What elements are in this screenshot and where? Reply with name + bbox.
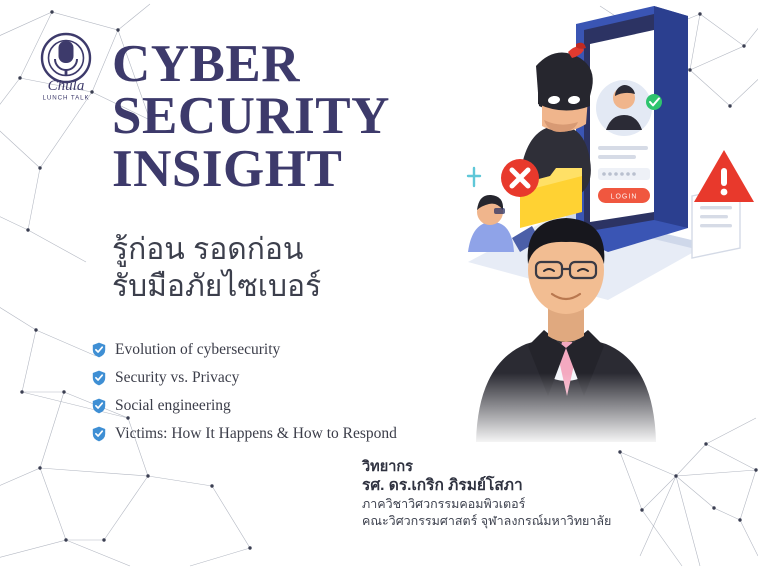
headline-line-2: SECURITY [112, 90, 472, 142]
shield-check-icon [92, 398, 106, 414]
list-item-label: Social engineering [115, 398, 231, 414]
speaker-role: วิทยากร [362, 458, 702, 476]
chula-lunch-talk-logo: Chula LUNCH TALK [28, 28, 104, 104]
logo-tagline-text: LUNCH TALK [43, 95, 90, 102]
headline-line-1: CYBER [112, 38, 472, 90]
list-item: Evolution of cybersecurity [92, 340, 397, 359]
shield-check-icon [92, 370, 106, 386]
thai-subtitle: รู้ก่อน รอดก่อน รับมือภัยไซเบอร์ [112, 232, 472, 305]
headline-line-3: INSIGHT [112, 143, 472, 195]
subtitle-line-2: รับมือภัยไซเบอร์ [112, 269, 472, 306]
list-item: Victims: How It Happens & How to Respond [92, 424, 397, 443]
list-item-label: Evolution of cybersecurity [115, 342, 280, 358]
list-item: Security vs. Privacy [92, 368, 397, 387]
speaker-faculty: คณะวิศวกรรมศาสตร์ จุฬาลงกรณ์มหาวิทยาลัย [362, 513, 702, 530]
page-title: CYBER SECURITY INSIGHT [112, 38, 472, 195]
speaker-portrait [452, 196, 680, 442]
logo-brand-text: Chula [48, 78, 85, 94]
subtitle-line-1: รู้ก่อน รอดก่อน [112, 232, 472, 269]
shield-check-icon [92, 342, 106, 358]
speaker-department: ภาควิชาวิศวกรรมคอมพิวเตอร์ [362, 496, 702, 513]
microphone-icon: Chula LUNCH TALK [28, 28, 104, 104]
poster-slide: Chula LUNCH TALK LOGIN [0, 0, 758, 569]
list-item-label: Victims: How It Happens & How to Respond [115, 426, 397, 442]
list-item-label: Security vs. Privacy [115, 370, 239, 386]
speaker-name: รศ. ดร.เกริก ภิรมย์โสภา [362, 476, 702, 496]
speaker-credits: วิทยากร รศ. ดร.เกริก ภิรมย์โสภา ภาควิชาว… [362, 458, 702, 530]
list-item: Social engineering [92, 396, 397, 415]
shield-check-icon [92, 426, 106, 442]
topic-list: Evolution of cybersecurity Security vs. … [92, 340, 397, 452]
